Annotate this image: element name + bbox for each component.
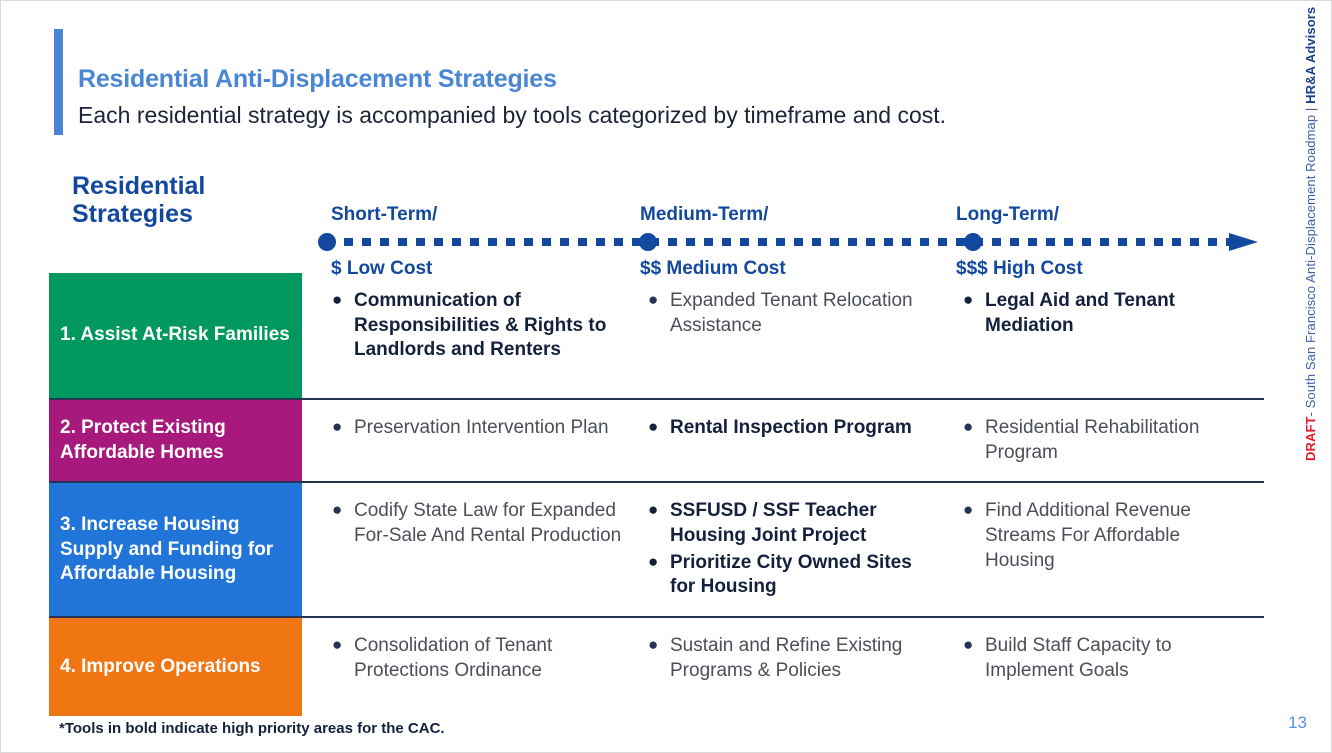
list-item: ● Communication of Responsibilities & Ri… — [332, 289, 622, 363]
cell-long-term: ● Build Staff Capacity to Implement Goal… — [949, 618, 1264, 716]
tool-label: Residential Rehabilitation Program — [985, 416, 1250, 465]
cell-medium-term: ● SSFUSD / SSF Teacher Housing Joint Pro… — [636, 483, 949, 616]
strategy-matrix: 1. Assist At-Risk Families ● Communicati… — [49, 273, 1264, 716]
firm-label: HR&A Advisors — [1303, 7, 1318, 104]
cell-long-term: ● Legal Aid and Tenant Mediation — [949, 273, 1264, 398]
list-item: ● Expanded Tenant Relocation Assistance — [648, 289, 935, 338]
timeline-node-long-term — [964, 233, 982, 251]
bullet-icon: ● — [332, 289, 354, 312]
category-label-2[interactable]: 2. Protect Existing Affordable Homes — [49, 400, 302, 481]
category-cell-wrapper: 4. Improve Operations — [49, 618, 302, 716]
bullet-icon: ● — [332, 634, 354, 657]
slide: Residential Anti-Displacement Strategies… — [0, 0, 1332, 753]
bullet-icon: ● — [648, 634, 670, 657]
bullet-icon: ● — [648, 289, 670, 312]
timeline-arrow — [317, 232, 1260, 252]
tool-label: Rental Inspection Program — [670, 416, 935, 441]
column-header-long-term-line1: Long-Term/ — [956, 204, 1059, 225]
cell-medium-term: ● Expanded Tenant Relocation Assistance — [636, 273, 949, 398]
bullet-icon: ● — [648, 551, 670, 574]
title-accent-bar — [54, 29, 63, 135]
category-label-3[interactable]: 3. Increase Housing Supply and Funding f… — [49, 483, 302, 616]
list-item: ● Preservation Intervention Plan — [332, 416, 622, 441]
tool-label: Build Staff Capacity to Implement Goals — [985, 634, 1250, 683]
cell-short-term: ● Consolidation of Tenant Protections Or… — [314, 618, 636, 716]
bullet-icon: ● — [963, 416, 985, 439]
page-title: Residential Anti-Displacement Strategies — [78, 65, 557, 94]
list-item: ● Legal Aid and Tenant Mediation — [963, 289, 1250, 338]
tool-label: SSFUSD / SSF Teacher Housing Joint Proje… — [670, 499, 935, 548]
bullet-icon: ● — [332, 416, 354, 439]
timeline-svg — [317, 232, 1260, 252]
tool-label: Find Additional Revenue Streams For Affo… — [985, 499, 1250, 573]
table-row: 4. Improve Operations ● Consolidation of… — [49, 618, 1264, 716]
column-header-long-term: Long-Term/ $$$ High Cost — [956, 175, 1083, 283]
tool-label: Preservation Intervention Plan — [354, 416, 622, 441]
bullet-icon: ● — [648, 416, 670, 439]
timeline-arrowhead — [1229, 233, 1258, 251]
tool-label: Codify State Law for Expanded For-Sale A… — [354, 499, 622, 548]
column-header-short-term: Short-Term/ $ Low Cost — [331, 175, 437, 283]
cell-long-term: ● Find Additional Revenue Streams For Af… — [949, 483, 1264, 616]
category-cell-wrapper: 3. Increase Housing Supply and Funding f… — [49, 483, 302, 616]
tool-label: Expanded Tenant Relocation Assistance — [670, 289, 935, 338]
list-item: ● Sustain and Refine Existing Programs &… — [648, 634, 935, 683]
tool-label: Sustain and Refine Existing Programs & P… — [670, 634, 935, 683]
cell-medium-term: ● Sustain and Refine Existing Programs &… — [636, 618, 949, 716]
list-item: ● Prioritize City Owned Sites for Housin… — [648, 551, 935, 600]
page-number: 13 — [1288, 713, 1307, 733]
list-item: ● Consolidation of Tenant Protections Or… — [332, 634, 622, 683]
row-tool-cells: ● Preservation Intervention Plan ● Renta… — [302, 400, 1264, 481]
row-tool-cells: ● Consolidation of Tenant Protections Or… — [302, 618, 1264, 716]
project-label: - South San Francisco Anti-Displacement … — [1303, 104, 1318, 417]
category-label-4[interactable]: 4. Improve Operations — [49, 618, 302, 716]
bullet-icon: ● — [963, 289, 985, 312]
cell-short-term: ● Preservation Intervention Plan — [314, 400, 636, 481]
category-cell-wrapper: 2. Protect Existing Affordable Homes — [49, 400, 302, 481]
column-header-medium-term: Medium-Term/ $$ Medium Cost — [640, 175, 786, 283]
side-caption: DRAFT- South San Francisco Anti-Displace… — [1303, 41, 1325, 461]
table-row: 2. Protect Existing Affordable Homes ● P… — [49, 400, 1264, 483]
list-item: ● Codify State Law for Expanded For-Sale… — [332, 499, 622, 548]
list-item: ● Residential Rehabilitation Program — [963, 416, 1250, 465]
cell-short-term: ● Communication of Responsibilities & Ri… — [314, 273, 636, 398]
tool-label: Consolidation of Tenant Protections Ordi… — [354, 634, 622, 683]
table-row: 1. Assist At-Risk Families ● Communicati… — [49, 273, 1264, 400]
tool-label: Communication of Responsibilities & Righ… — [354, 289, 622, 363]
category-label-1[interactable]: 1. Assist At-Risk Families — [49, 273, 302, 398]
category-cell-wrapper: 1. Assist At-Risk Families — [49, 273, 302, 398]
bullet-icon: ● — [648, 499, 670, 522]
cell-long-term: ● Residential Rehabilitation Program — [949, 400, 1264, 481]
page-subtitle: Each residential strategy is accompanied… — [78, 102, 946, 129]
bullet-icon: ● — [332, 499, 354, 522]
draft-label: DRAFT — [1303, 416, 1318, 461]
cell-medium-term: ● Rental Inspection Program — [636, 400, 949, 481]
row-header-label: Residential Strategies — [72, 173, 302, 228]
tool-label: Legal Aid and Tenant Mediation — [985, 289, 1250, 338]
row-tool-cells: ● Codify State Law for Expanded For-Sale… — [302, 483, 1264, 616]
list-item: ● Find Additional Revenue Streams For Af… — [963, 499, 1250, 573]
table-row: 3. Increase Housing Supply and Funding f… — [49, 483, 1264, 618]
cell-short-term: ● Codify State Law for Expanded For-Sale… — [314, 483, 636, 616]
column-header-short-term-line1: Short-Term/ — [331, 204, 437, 225]
timeline-node-medium-term — [639, 233, 657, 251]
list-item: ● SSFUSD / SSF Teacher Housing Joint Pro… — [648, 499, 935, 548]
timeline-node-short-term — [318, 233, 336, 251]
column-header-medium-term-line1: Medium-Term/ — [640, 204, 768, 225]
bullet-icon: ● — [963, 499, 985, 522]
footnote: *Tools in bold indicate high priority ar… — [59, 720, 445, 737]
list-item: ● Build Staff Capacity to Implement Goal… — [963, 634, 1250, 683]
tool-label: Prioritize City Owned Sites for Housing — [670, 551, 935, 600]
bullet-icon: ● — [963, 634, 985, 657]
row-header-line2: Strategies — [72, 200, 193, 228]
row-tool-cells: ● Communication of Responsibilities & Ri… — [302, 273, 1264, 398]
row-header-line1: Residential — [72, 172, 205, 200]
list-item: ● Rental Inspection Program — [648, 416, 935, 441]
